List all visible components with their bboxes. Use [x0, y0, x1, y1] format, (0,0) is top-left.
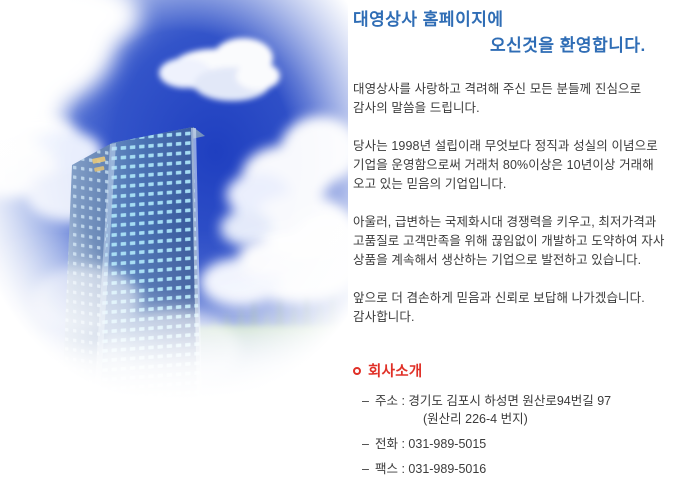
company-info-section: 회사소개 – 주소 : 경기도 김포시 하성면 원산로94번길 97 (원산리 …	[353, 360, 695, 478]
company-info-heading: 회사소개	[353, 360, 695, 381]
welcome-title-line-1: 대영상사 홈페이지에	[353, 0, 695, 33]
welcome-title: 대영상사 홈페이지에 오신것을 환영합니다.	[353, 0, 695, 59]
fax-value: 팩스 : 031-989-5016	[375, 460, 695, 478]
list-item-address: – 주소 : 경기도 김포시 하성면 원산로94번길 97 (원산리 226-4…	[353, 392, 695, 428]
welcome-title-line-2: 오신것을 환영합니다.	[353, 33, 695, 59]
paragraph-vision: 아울러, 급변하는 국제화시대 경쟁력을 키우고, 최저가격과 고품질로 고객만…	[353, 213, 695, 270]
address-value: 주소 : 경기도 김포시 하성면 원산로94번길 97	[375, 394, 611, 408]
phone-value: 전화 : 031-989-5015	[375, 435, 695, 453]
address-value-line2: (원산리 226-4 번지)	[375, 410, 695, 428]
skyscraper-photo	[0, 0, 348, 400]
list-item-phone: – 전화 : 031-989-5015	[353, 435, 695, 453]
paragraph-history: 당사는 1998년 설립이래 무엇보다 정직과 성실의 이념으로 기업을 운영함…	[353, 137, 695, 194]
company-info-heading-label: 회사소개	[368, 360, 423, 381]
company-details-list: – 주소 : 경기도 김포시 하성면 원산로94번길 97 (원산리 226-4…	[353, 392, 695, 478]
hero-image	[0, 0, 348, 400]
dash-marker: –	[362, 460, 375, 478]
bottom-fade-overlay	[0, 230, 348, 400]
content-column: 대영상사 홈페이지에 오신것을 환영합니다. 대영상사를 사랑하고 격려해 주신…	[353, 0, 695, 500]
list-item-fax: – 팩스 : 031-989-5016	[353, 460, 695, 478]
ring-bullet-icon	[353, 367, 361, 375]
address-value-wrapper: 주소 : 경기도 김포시 하성면 원산로94번길 97 (원산리 226-4 번…	[375, 392, 695, 428]
paragraph-closing: 앞으로 더 겸손하게 믿음과 신뢰로 보답해 나가겠습니다. 감사합니다.	[353, 289, 695, 327]
dash-marker: –	[362, 435, 375, 453]
paragraph-gratitude: 대영상사를 사랑하고 격려해 주신 모든 분들께 진심으로 감사의 말씀을 드립…	[353, 80, 695, 118]
dash-marker: –	[362, 392, 375, 410]
